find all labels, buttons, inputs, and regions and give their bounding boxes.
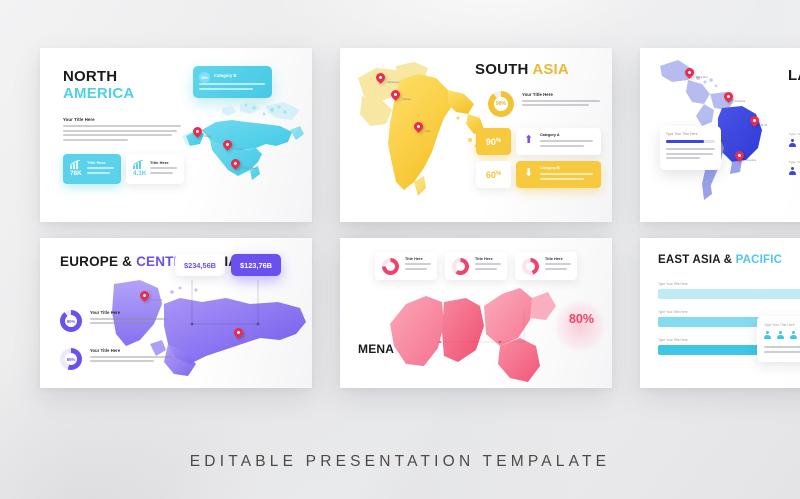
category-paragraph [199, 83, 265, 92]
info-card-paragraph [666, 148, 715, 162]
donut-chart-90: 90% [488, 91, 514, 117]
category-badge: 35% [199, 72, 210, 83]
person-icon [789, 167, 796, 175]
card-paragraph [405, 263, 433, 270]
donut-chart-1 [382, 258, 399, 275]
card-paragraph [475, 263, 503, 270]
person-icon [764, 331, 771, 339]
category-box-a[interactable]: ⬆ Category A [516, 128, 601, 155]
people-row-2: Type Your Title Here [789, 160, 800, 175]
donut-row-1: 90% Your Title Here [60, 310, 174, 327]
title-line-2: PACIFIC [736, 254, 783, 266]
title-line-1: LA [788, 67, 800, 84]
side-card-title: Type Your Title Here [764, 323, 795, 327]
mena-card-2[interactable]: Title Here [445, 252, 507, 280]
category-paragraph [540, 140, 595, 149]
card-title: Title Here [545, 257, 573, 261]
map-pin-greenland[interactable]: Greenland [140, 291, 149, 304]
side-card[interactable]: Type Your Title Here [757, 316, 800, 362]
page-title: MENA [358, 343, 394, 356]
donut-chart-2 [452, 258, 469, 275]
info-card[interactable]: Type Your Title Here 90% [660, 126, 721, 170]
stat-paragraph [87, 167, 116, 174]
stat-title: Title Here [150, 160, 179, 165]
north-america-map [180, 100, 308, 205]
page-title: EAST ASIA & PACIFIC [658, 254, 782, 267]
donut-value: 90% [60, 310, 82, 332]
people-row-title: Type Your Title Here [789, 160, 800, 164]
stat-paragraph [150, 167, 179, 174]
value-tag-2[interactable]: $123,76B [231, 254, 281, 276]
map-pin-india[interactable]: India [414, 122, 423, 135]
slide-north-america[interactable]: NORTH AMERICA Your Title Here Title H [40, 48, 312, 222]
person-icon [777, 331, 784, 339]
body-paragraph [63, 125, 181, 141]
value-tag-1[interactable]: $234,56B [175, 254, 225, 276]
category-label: Category B [214, 73, 236, 78]
bar-label: Type Your Title Here [658, 282, 800, 286]
row-paragraph [90, 356, 174, 363]
donut-chart-90: 90% [60, 310, 82, 332]
title-line-1: EAST ASIA & [658, 254, 732, 266]
donut-paragraph [522, 100, 600, 107]
donut-chart-55: 55% [60, 348, 82, 370]
footer-caption: EDITABLE PRESENTATION TEMPALATE [0, 453, 800, 471]
bar-chart-icon [133, 160, 144, 169]
map-pin-brazil[interactable]: Brazil [750, 116, 759, 129]
progress-bar-track: 90% [666, 140, 715, 143]
highlight-value: 80% [569, 312, 594, 326]
page-title: NORTH AMERICA [63, 69, 134, 103]
card-title: Title Here [405, 257, 433, 261]
map-pin-colombia[interactable]: Colombia [724, 92, 733, 105]
bar-fill [658, 345, 764, 355]
body-title: Your Title Here [63, 117, 181, 122]
bar-chart-icon [70, 160, 81, 169]
slide-south-asia[interactable]: SOUTH ASIA [340, 48, 612, 222]
stat-card-1[interactable]: Title Here 78K [63, 154, 121, 184]
card-paragraph [545, 263, 573, 270]
bar-fill [658, 289, 800, 299]
body-section: Your Title Here [63, 117, 181, 143]
row-paragraph [90, 318, 174, 325]
bar-row-1: Type Your Title Here 90% [658, 282, 800, 299]
map-pin-russia[interactable]: Russia [234, 328, 243, 341]
mena-map [388, 280, 578, 385]
stat-value: 4.1K [133, 170, 147, 177]
bar-label: Type Your Title Here [658, 310, 800, 314]
title-line-2: AMERICA [63, 86, 134, 103]
category-card[interactable]: 35% Category B [193, 66, 272, 98]
arrow-up-icon: ⬆ [524, 135, 533, 146]
highlight-halo [554, 300, 606, 352]
people-row-1: Type Your Title Here [789, 132, 800, 147]
percent-box-60: 60% [476, 161, 511, 188]
stat-value: 78K [70, 170, 82, 177]
map-pin-costa-rica[interactable]: Costa Rica [685, 68, 694, 81]
mena-card-3[interactable]: Title Here [515, 252, 577, 280]
title-line-2: ASIA [532, 61, 569, 78]
mena-card-1[interactable]: Title Here [375, 252, 437, 280]
map-pin-united-states[interactable]: United States [231, 159, 240, 172]
title-line-1: EUROPE & [60, 254, 132, 269]
side-card-paragraph [764, 346, 800, 355]
person-icon [789, 139, 796, 147]
people-row-title: Type Your Title Here [789, 132, 800, 136]
donut-title: Your Title Here [522, 92, 600, 97]
donut-value: 90% [488, 91, 514, 117]
category-box-b[interactable]: ⬇ Category B [516, 161, 601, 188]
donut-text: Your Title Here [522, 92, 600, 109]
category-label: Category A [540, 133, 560, 137]
donut-row-2: 55% Your Title Here [60, 348, 174, 365]
page-title: LA AM CA [788, 68, 800, 85]
category-label: Category B [540, 166, 560, 170]
row-title: Your Title Here [90, 310, 174, 315]
map-pin-argentina[interactable]: Argentina [735, 151, 744, 164]
info-card-title: Type Your Title Here [666, 132, 698, 136]
stat-title: Title Here [87, 160, 116, 165]
person-icon [790, 331, 797, 339]
percent-box-90: 90% [476, 128, 511, 155]
arrow-down-icon: ⬇ [524, 168, 533, 179]
stat-card-2[interactable]: Title Here 4.1K [126, 154, 184, 184]
progress-bar-fill [666, 140, 704, 143]
slides-stage: NORTH AMERICA Your Title Here Title H [0, 0, 800, 499]
donut-chart-3 [522, 258, 539, 275]
row-title: Your Title Here [90, 348, 174, 353]
map-pin-afghanistan[interactable]: Afghanistan [376, 73, 385, 86]
progress-bar-value: 90% [721, 139, 727, 143]
bar-track: 90% [658, 289, 800, 299]
slide-europe-central-asia[interactable]: EUROPE & CENTRAL ASIA $234,56B $123,76B [40, 238, 312, 388]
map-pin-pakistan[interactable]: Pakistan [391, 90, 400, 103]
map-pin-canada[interactable]: Canada [223, 140, 232, 153]
slide-mena[interactable]: Title Here Title Here Title [340, 238, 612, 388]
slide-east-asia-pacific[interactable]: EAST ASIA & PACIFIC Type Your Title Here… [640, 238, 800, 388]
card-title: Title Here [475, 257, 503, 261]
map-pin-alaska[interactable]: Alaska [193, 127, 202, 140]
slide-latin-america-caribbean[interactable]: LA AM CA [640, 48, 800, 222]
donut-value: 55% [60, 348, 82, 370]
category-paragraph [540, 173, 595, 182]
title-line-1: NORTH [63, 68, 117, 85]
